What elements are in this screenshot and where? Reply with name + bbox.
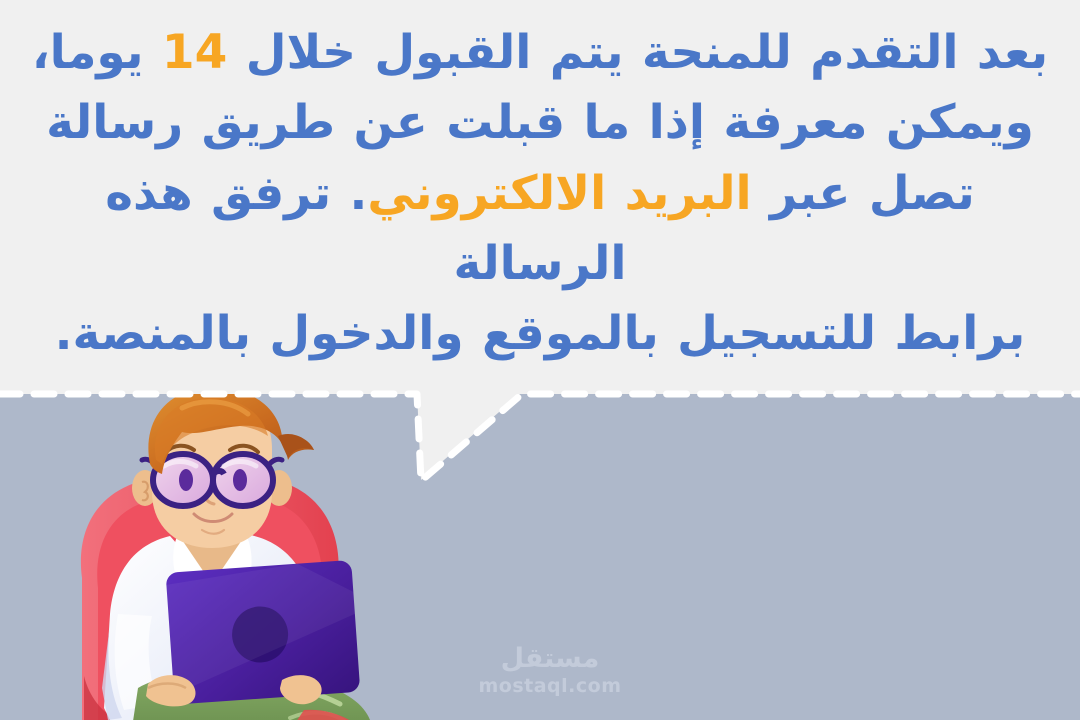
bubble-line-1: بعد التقدم للمنحة يتم القبول خلال 14 يوم… [26,18,1054,88]
email-highlight: البريد الالكتروني [367,166,751,221]
bubble-line-1-part-3: يوما، [32,25,162,80]
bubble-line-3: تصل عبر البريد الالكتروني. ترفق هذه الرس… [26,159,1054,300]
bubble-line-4: برابط للتسجيل بالموقع والدخول بالمنصة. [26,299,1054,369]
bubble-line-3-part-1: تصل عبر [752,166,975,221]
bubble-line-2: ويمكن معرفة إذا ما قبلت عن طريق رسالة [26,88,1054,158]
days-count-highlight: 14 [162,25,227,80]
bubble-line-1-part-1: بعد التقدم للمنحة يتم القبول خلال [227,25,1048,80]
speech-bubble: بعد التقدم للمنحة يتم القبول خلال 14 يوم… [0,0,1080,394]
bubble-line-4-text: برابط للتسجيل بالموقع والدخول بالمنصة. [55,306,1026,361]
illustration-scene [0,394,1080,720]
bubble-line-2-text: ويمكن معرفة إذا ما قبلت عن طريق رسالة [46,95,1034,150]
man-with-laptop-illustration [52,394,382,720]
slide-canvas: بعد التقدم للمنحة يتم القبول خلال 14 يوم… [0,0,1080,720]
bubble-text-block: بعد التقدم للمنحة يتم القبول خلال 14 يوم… [0,18,1080,369]
laptop [166,560,361,705]
